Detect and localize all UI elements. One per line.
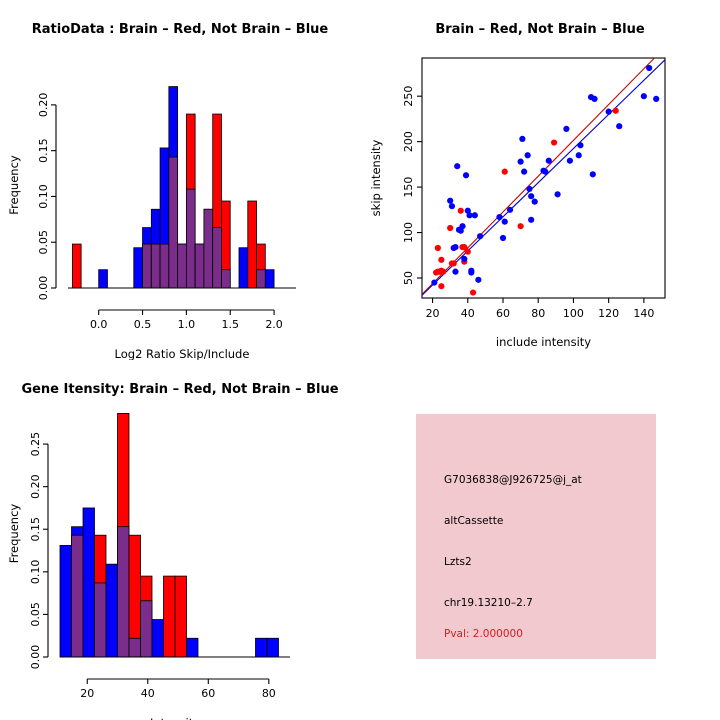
scatter-point [461,244,467,250]
histogram-bar-overlap [72,535,84,657]
histogram-bar-overlap [169,157,178,288]
histogram-bar-overlap [143,244,152,288]
histogram-bar [72,244,81,288]
scatter-point [551,139,557,145]
regression-line [422,60,665,295]
scatter-title: Brain – Red, Not Brain – Blue [360,22,720,37]
histogram-bar [83,508,95,657]
histogram-bar [239,248,248,288]
histogram-bar-overlap [204,209,213,288]
panel-gene-histogram: Gene Itensity: Brain – Red, Not Brain – … [0,360,360,720]
scatter-point [470,289,476,295]
scatter-point [500,235,506,241]
x-axis-tick-label: 100 [563,307,584,320]
gene-histogram-title: Gene Itensity: Brain – Red, Not Brain – … [0,382,360,397]
scatter-point [576,152,582,158]
y-axis-tick-label: 0.15 [29,517,42,542]
scatter-point [577,142,583,148]
y-axis-tick-label: 0.10 [29,560,42,585]
locus-text: chr19.13210–2.7 [444,597,533,609]
y-axis-label: Frequency [7,155,21,215]
scatter-point [518,159,524,165]
histogram-bar [134,248,143,288]
y-axis-tick-label: 0.15 [37,138,50,163]
histogram-bar-overlap [257,270,266,288]
y-axis-tick-label: 200 [402,131,415,152]
histogram-bar-overlap [213,228,222,288]
x-axis-tick-label: 40 [461,307,475,320]
x-axis-tick-label: 80 [262,687,276,700]
panel-ratio-histogram: RatioData : Brain – Red, Not Brain – Blu… [0,0,360,360]
histogram-bar-overlap [221,270,230,288]
x-axis-tick-label: 20 [80,687,94,700]
scatter-point [567,158,573,164]
figure-canvas: RatioData : Brain – Red, Not Brain – Blu… [0,0,720,720]
gene-info-box: G7036838@J926725@j_at altCassette Lzts2 … [416,414,656,659]
x-axis-tick-label: 0.5 [134,318,152,331]
histogram-bar-overlap [151,244,160,288]
scatter-point [518,223,524,229]
histogram-bar [106,564,118,657]
scatter-point [616,123,622,129]
y-axis-tick-label: 0.20 [37,93,50,118]
scatter-point [461,256,467,262]
histogram-bar [265,270,274,288]
scatter-point [528,217,534,223]
x-axis-tick-label: 120 [598,307,619,320]
scatter-point [591,96,597,102]
scatter-point [606,109,612,115]
scatter-point [459,223,465,229]
x-axis-tick-label: 140 [633,307,654,320]
histogram-bar-overlap [186,189,195,288]
scatter-point [477,233,483,239]
scatter-point [458,208,464,214]
y-axis-label: Frequency [7,504,21,564]
scatter-point [646,65,652,71]
scatter-point [463,172,469,178]
regression-line [422,58,654,294]
y-axis-tick-label: 0.00 [29,645,42,670]
scatter-point [554,191,560,197]
histogram-bar [267,638,279,657]
histogram-bar-overlap [195,244,204,288]
x-axis-label: Log2 Ratio Skip/Include [115,347,250,360]
y-axis-tick-label: 0.05 [29,602,42,627]
x-axis-tick-label: 20 [426,307,440,320]
histogram-bar-overlap [178,244,187,288]
scatter-point [438,257,444,263]
scatter-point [475,277,481,283]
y-axis-tick-label: 150 [402,177,415,198]
histogram-bar-overlap [141,601,153,657]
scatter-point [452,269,458,275]
scatter-point [590,171,596,177]
svg-gene-group: 0.000.050.100.150.200.25Frequency2040608… [7,413,290,720]
x-axis-tick-label: 40 [141,687,155,700]
y-axis-tick-label: 100 [402,222,415,243]
x-axis-tick-label: 80 [531,307,545,320]
y-axis-tick-label: 0.25 [29,432,42,457]
histogram-bar-overlap [129,638,141,657]
panel-scatter: Brain – Red, Not Brain – Blue 5010015020… [360,0,720,360]
scatter-point [431,279,437,285]
scatter-point [438,268,444,274]
histogram-bar [60,545,72,657]
scatter-point [641,93,647,99]
scatter-group: 50100150200250skip intensity204060801001… [369,58,665,349]
histogram-bar-overlap [95,583,107,657]
scatter-point [613,108,619,114]
ratio-histogram-title: RatioData : Brain – Red, Not Brain – Blu… [0,22,360,37]
y-axis-tick-label: 0.20 [29,474,42,499]
x-axis-tick-label: 1.5 [221,318,239,331]
scatter-point [447,225,453,231]
y-axis-tick-label: 0.05 [37,230,50,255]
histogram-bar [187,638,199,657]
histogram-bar [99,270,108,288]
scatter-point [466,212,472,218]
scatter-point [525,152,531,158]
histogram-bar [164,576,176,657]
scatter-point [435,245,441,251]
scatter-point [653,96,659,102]
scatter-point [532,199,538,205]
probe-id-text: G7036838@J926725@j_at [444,474,582,486]
scatter-point [447,198,453,204]
panel-info: G7036838@J926725@j_at altCassette Lzts2 … [360,360,720,720]
y-axis-tick-label: 50 [402,271,415,285]
x-axis-label: include intensity [496,335,591,349]
x-axis-label: Intensity [150,716,200,720]
scatter-point [563,126,569,132]
ratio-histogram-plot: 0.000.050.100.150.20Frequency0.00.51.01.… [0,0,360,360]
scatter-point [451,260,457,266]
histogram-bar-overlap [118,527,130,657]
histogram-bar [152,620,164,657]
scatter-point [507,207,513,213]
scatter-point [521,169,527,175]
x-axis-tick-label: 1.0 [178,318,196,331]
scatter-point [452,244,458,250]
scatter-point [502,169,508,175]
x-axis-tick-label: 60 [496,307,510,320]
scatter-point [546,158,552,164]
scatter-point [449,203,455,209]
scatter-point [502,219,508,225]
scatter-point [526,186,532,192]
scatter-point [519,136,525,142]
y-axis-label: skip intensity [369,139,383,216]
histogram-bar [175,576,187,657]
histogram-bar [256,638,268,657]
scatter-point [542,169,548,175]
histogram-bar [248,201,257,288]
y-axis-tick-label: 0.00 [37,276,50,301]
gene-histogram-plot: 0.000.050.100.150.200.25Frequency2040608… [0,360,360,720]
gene-symbol-text: Lzts2 [444,556,472,568]
histogram-bar-overlap [160,244,169,288]
scatter-point [454,163,460,169]
scatter-plot: 50100150200250skip intensity204060801001… [360,0,720,360]
pval-text: Pval: 2.000000 [444,628,523,640]
scatter-point [496,214,502,220]
scatter-point [468,269,474,275]
x-axis-tick-label: 60 [201,687,215,700]
scatter-point [438,283,444,289]
x-axis-tick-label: 2.0 [265,318,283,331]
scatter-point [472,212,478,218]
scatter-point [528,193,534,199]
y-axis-tick-label: 250 [402,86,415,107]
x-axis-tick-label: 0.0 [90,318,108,331]
svg-ratio-group: 0.000.050.100.150.20Frequency0.00.51.01.… [7,87,296,360]
event-type-text: altCassette [444,515,503,527]
y-axis-tick-label: 0.10 [37,184,50,209]
